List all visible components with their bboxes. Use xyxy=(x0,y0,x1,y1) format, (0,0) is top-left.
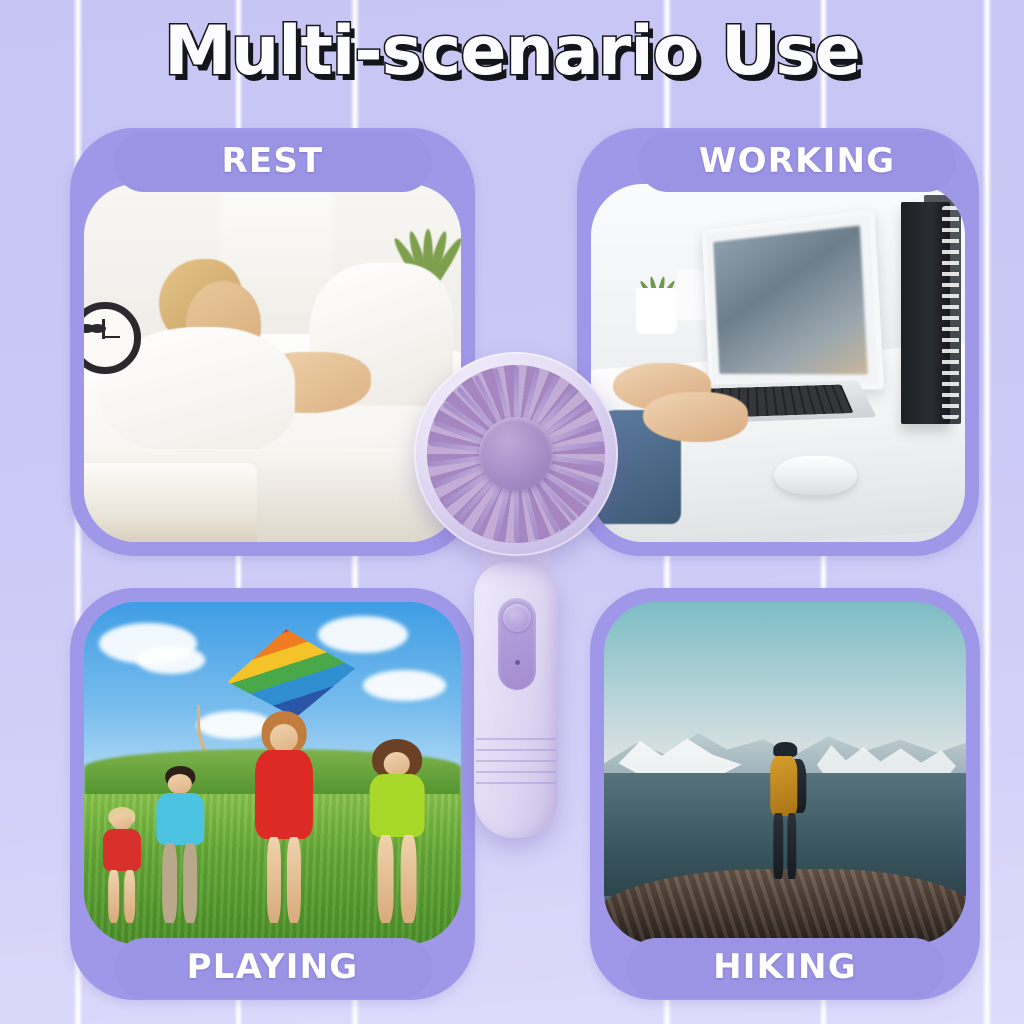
child-head xyxy=(270,724,298,752)
child-running xyxy=(95,807,148,923)
computer-mouse xyxy=(774,456,856,495)
hiker-legs xyxy=(774,813,797,879)
laptop-lid xyxy=(701,209,883,390)
plant-pot xyxy=(636,288,677,335)
cloud xyxy=(137,646,205,673)
child-legs xyxy=(160,843,200,923)
scenario-label-rest: REST xyxy=(114,132,432,192)
power-button[interactable] xyxy=(503,604,531,632)
child-running xyxy=(148,766,212,923)
hiker-cap xyxy=(774,742,797,757)
child-head xyxy=(168,774,192,794)
fan-button-panel[interactable] xyxy=(498,598,536,690)
child-shirt xyxy=(103,829,141,871)
typing-hand-right xyxy=(643,392,748,442)
handle-grip-ridges xyxy=(476,738,556,784)
child-legs xyxy=(106,870,138,923)
scenario-label-working: WORKING xyxy=(638,132,956,192)
background-stripe xyxy=(982,0,992,1024)
scenario-card-hiking[interactable]: HIKING xyxy=(590,588,980,1000)
laptop-screen xyxy=(713,226,867,374)
scenario-photo-rest xyxy=(84,184,461,542)
notebook-spiral-coil xyxy=(942,206,959,419)
child-legs xyxy=(375,835,420,924)
handheld-fan-product xyxy=(414,352,618,838)
alarm-bell-right xyxy=(89,324,106,333)
scenario-photo-playing xyxy=(84,602,461,944)
page-title: Multi-scenario Use xyxy=(0,16,1024,87)
child-dress xyxy=(255,750,313,839)
rock-outcrop xyxy=(604,869,966,944)
indicator-led xyxy=(515,660,520,665)
child-legs xyxy=(265,837,303,924)
hiker-figure xyxy=(763,742,806,879)
scenario-card-working[interactable]: ARCHITECTURE INTEGRATION WORKING xyxy=(577,128,979,556)
fan-handle[interactable] xyxy=(474,562,558,838)
architecture-book: ARCHITECTURE INTEGRATION xyxy=(901,202,950,424)
scenario-photo-hiking xyxy=(604,602,966,944)
child-head xyxy=(384,752,411,776)
fan-head xyxy=(414,352,618,556)
scenario-photo-working: ARCHITECTURE INTEGRATION xyxy=(591,184,965,542)
child-shirt xyxy=(156,793,203,845)
child-running xyxy=(242,711,325,923)
child-head xyxy=(111,814,132,830)
scenario-label-hiking: HIKING xyxy=(626,938,944,998)
hiker-jacket xyxy=(770,756,797,816)
cloud xyxy=(318,616,408,654)
product-feature-poster: Multi-scenario Use REST xyxy=(0,0,1024,1024)
fan-hub xyxy=(479,417,553,491)
scenario-label-playing: PLAYING xyxy=(114,938,432,998)
nightstand xyxy=(84,463,257,542)
fan-inner-cavity xyxy=(427,365,605,543)
